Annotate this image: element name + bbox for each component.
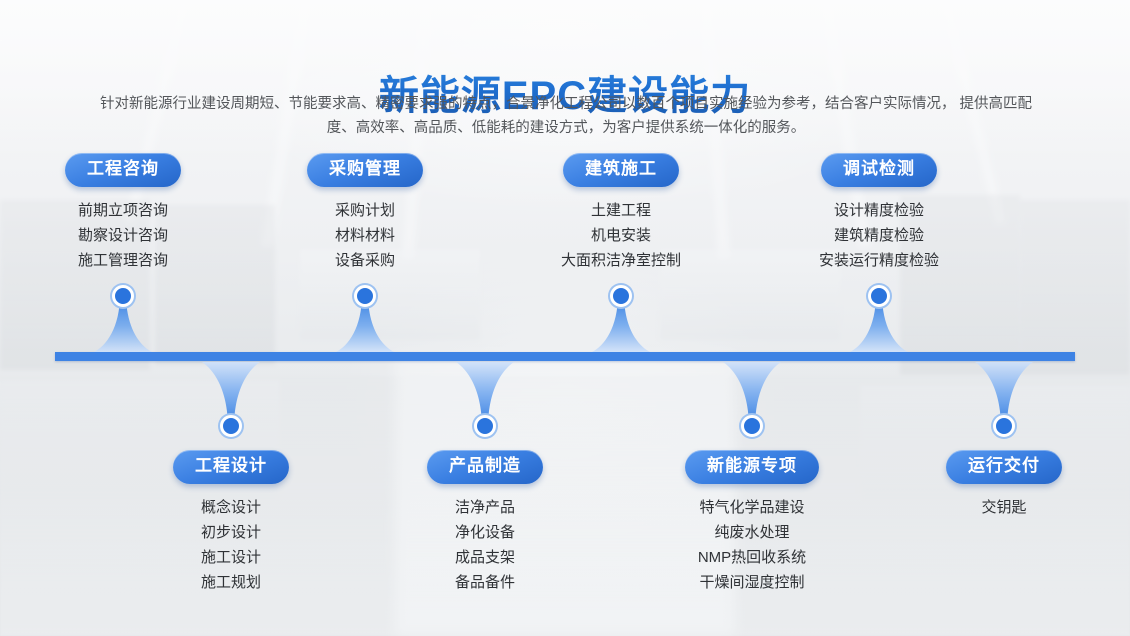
timeline-node-below-1: 工程设计 概念设计 初步设计 施工设计 施工规划 bbox=[131, 450, 331, 595]
timeline-node-dot-below-4[interactable] bbox=[993, 415, 1015, 437]
list-item: 净化设备 bbox=[385, 520, 585, 545]
timeline-node-above-3: 建筑施工 土建工程 机电安装 大面积洁净室控制 bbox=[511, 153, 731, 273]
list-item: 成品支架 bbox=[385, 545, 585, 570]
list-item: 施工设计 bbox=[131, 545, 331, 570]
list-item: 纯废水处理 bbox=[642, 520, 862, 545]
timeline-node-dot-above-3[interactable] bbox=[610, 285, 632, 307]
infographic-content: 新能源EPC建设能力 针对新能源行业建设周期短、节能要求高、精密要求强的特点，合… bbox=[0, 0, 1130, 636]
node-label-pill[interactable]: 采购管理 bbox=[307, 153, 423, 187]
list-item: 设计精度检验 bbox=[769, 198, 989, 223]
node-item-list: 交钥匙 bbox=[904, 495, 1104, 520]
list-item: 机电安装 bbox=[511, 223, 731, 248]
list-item: 安装运行精度检验 bbox=[769, 248, 989, 273]
timeline-node-below-4: 运行交付 交钥匙 bbox=[904, 450, 1104, 520]
connector-funnels-below bbox=[0, 358, 1130, 436]
node-item-list: 采购计划 材料材料 设备采购 bbox=[265, 198, 465, 273]
timeline-node-above-1: 工程咨询 前期立项咨询 勘察设计咨询 施工管理咨询 bbox=[23, 153, 223, 273]
list-item: NMP热回收系统 bbox=[642, 545, 862, 570]
list-item: 土建工程 bbox=[511, 198, 731, 223]
timeline-node-above-2: 采购管理 采购计划 材料材料 设备采购 bbox=[265, 153, 465, 273]
timeline-node-below-2: 产品制造 洁净产品 净化设备 成品支架 备品备件 bbox=[385, 450, 585, 595]
connector-funnels-above bbox=[0, 288, 1130, 364]
node-label-pill[interactable]: 运行交付 bbox=[946, 450, 1062, 484]
list-item: 施工规划 bbox=[131, 570, 331, 595]
list-item: 施工管理咨询 bbox=[23, 248, 223, 273]
list-item: 勘察设计咨询 bbox=[23, 223, 223, 248]
node-label-pill[interactable]: 工程咨询 bbox=[65, 153, 181, 187]
node-label-pill[interactable]: 工程设计 bbox=[173, 450, 289, 484]
list-item: 材料材料 bbox=[265, 223, 465, 248]
timeline-node-dot-above-4[interactable] bbox=[868, 285, 890, 307]
node-item-list: 前期立项咨询 勘察设计咨询 施工管理咨询 bbox=[23, 198, 223, 273]
timeline-node-above-4: 调试检测 设计精度检验 建筑精度检验 安装运行精度检验 bbox=[769, 153, 989, 273]
node-item-list: 土建工程 机电安装 大面积洁净室控制 bbox=[511, 198, 731, 273]
timeline-node-dot-above-1[interactable] bbox=[112, 285, 134, 307]
list-item: 概念设计 bbox=[131, 495, 331, 520]
timeline-node-dot-below-1[interactable] bbox=[220, 415, 242, 437]
list-item: 大面积洁净室控制 bbox=[511, 248, 731, 273]
node-label-pill[interactable]: 新能源专项 bbox=[685, 450, 819, 484]
list-item: 干燥间湿度控制 bbox=[642, 570, 862, 595]
subtitle-line-1: 针对新能源行业建设周期短、节能要求高、精密要求强的特点，合景净化工程公司以数百个… bbox=[100, 96, 956, 112]
infographic-canvas: 新能源EPC建设能力 针对新能源行业建设周期短、节能要求高、精密要求强的特点，合… bbox=[0, 0, 1130, 636]
timeline-node-dot-above-2[interactable] bbox=[354, 285, 376, 307]
node-label-pill[interactable]: 调试检测 bbox=[821, 153, 937, 187]
node-item-list: 概念设计 初步设计 施工设计 施工规划 bbox=[131, 495, 331, 595]
list-item: 特气化学品建设 bbox=[642, 495, 862, 520]
list-item: 建筑精度检验 bbox=[769, 223, 989, 248]
list-item: 初步设计 bbox=[131, 520, 331, 545]
timeline-node-dot-below-2[interactable] bbox=[474, 415, 496, 437]
list-item: 前期立项咨询 bbox=[23, 198, 223, 223]
list-item: 洁净产品 bbox=[385, 495, 585, 520]
timeline-node-dot-below-3[interactable] bbox=[741, 415, 763, 437]
list-item: 采购计划 bbox=[265, 198, 465, 223]
list-item: 交钥匙 bbox=[904, 495, 1104, 520]
node-item-list: 设计精度检验 建筑精度检验 安装运行精度检验 bbox=[769, 198, 989, 273]
list-item: 设备采购 bbox=[265, 248, 465, 273]
timeline-node-below-3: 新能源专项 特气化学品建设 纯废水处理 NMP热回收系统 干燥间湿度控制 bbox=[642, 450, 862, 595]
list-item: 备品备件 bbox=[385, 570, 585, 595]
node-item-list: 洁净产品 净化设备 成品支架 备品备件 bbox=[385, 495, 585, 595]
page-subtitle: 针对新能源行业建设周期短、节能要求高、精密要求强的特点，合景净化工程公司以数百个… bbox=[88, 92, 1044, 140]
node-label-pill[interactable]: 产品制造 bbox=[427, 450, 543, 484]
node-label-pill[interactable]: 建筑施工 bbox=[563, 153, 679, 187]
node-item-list: 特气化学品建设 纯废水处理 NMP热回收系统 干燥间湿度控制 bbox=[642, 495, 862, 595]
